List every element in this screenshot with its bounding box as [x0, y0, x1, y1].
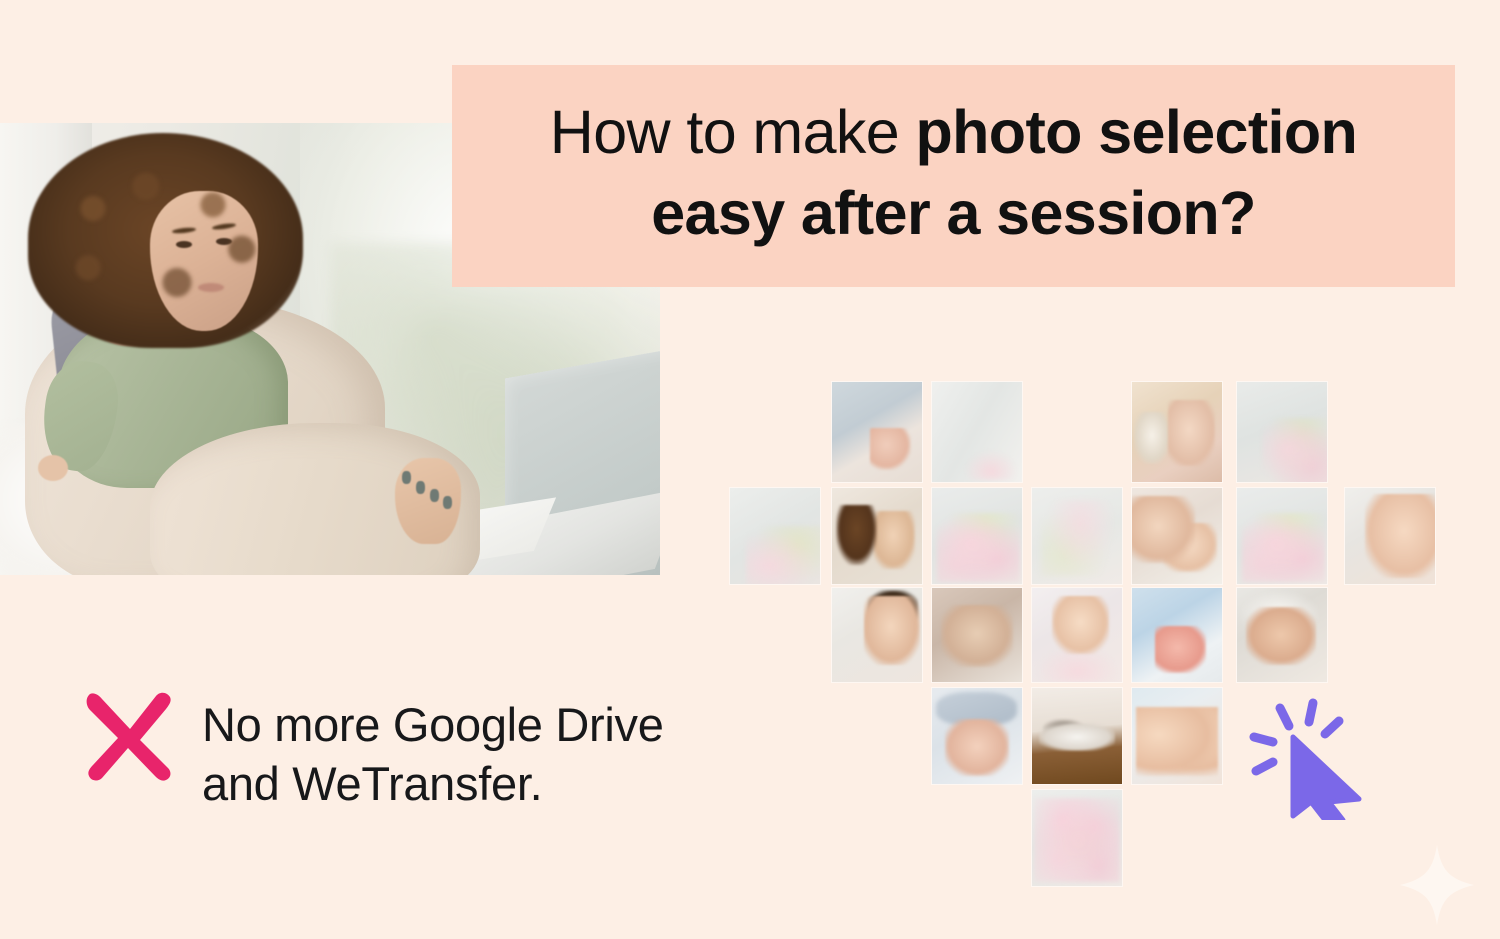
hero-nail-4: [443, 496, 452, 509]
claim-line-1: No more Google Drive: [202, 696, 664, 755]
collage-tile[interactable]: [1132, 588, 1222, 682]
click-cursor-icon[interactable]: [1243, 692, 1365, 820]
collage-tile-image: [1237, 488, 1327, 584]
collage-tile[interactable]: [1132, 488, 1222, 584]
collage-tile[interactable]: [832, 488, 922, 584]
headline-line-1: How to make photo selection: [550, 92, 1357, 173]
collage-tile-image: [1032, 488, 1122, 584]
collage-tile-image: [932, 688, 1022, 784]
collage-tile[interactable]: [1032, 588, 1122, 682]
claim-line-2: and WeTransfer.: [202, 755, 664, 814]
collage-tile-image: [832, 488, 922, 584]
collage-tile-image: [1132, 488, 1222, 584]
hero-mother-curls: [45, 153, 285, 338]
collage-tile[interactable]: [932, 588, 1022, 682]
collage-tile[interactable]: [1345, 488, 1435, 584]
collage-tile[interactable]: [932, 488, 1022, 584]
hero-nail-3: [430, 489, 439, 502]
collage-tile[interactable]: [1132, 382, 1222, 482]
collage-tile-image: [1032, 588, 1122, 682]
collage-tile-image: [1237, 588, 1327, 682]
collage-tile-image: [1132, 588, 1222, 682]
collage-tile[interactable]: [1032, 790, 1122, 886]
collage-tile[interactable]: [1237, 488, 1327, 584]
collage-tile-image: [1132, 688, 1222, 784]
collage-tile[interactable]: [730, 488, 820, 584]
hero-nail-1: [402, 471, 411, 484]
collage-tile-image: [832, 382, 922, 482]
poster-canvas: How to make photo selection easy after a…: [0, 0, 1500, 939]
collage-tile-image: [730, 488, 820, 584]
hero-baby-hand: [38, 455, 68, 481]
collage-tile-image: [932, 588, 1022, 682]
collage-tile[interactable]: [1237, 588, 1327, 682]
headline-line-2: easy after a session?: [651, 173, 1256, 254]
collage-tile[interactable]: [1032, 488, 1122, 584]
collage-tile[interactable]: [932, 688, 1022, 784]
headline-line-1-emphasis: photo selection: [915, 98, 1357, 166]
claim-block: No more Google Drive and WeTransfer.: [78, 690, 798, 814]
collage-tile-image: [832, 588, 922, 682]
collage-tile-image: [1345, 488, 1435, 584]
collage-tile[interactable]: [932, 382, 1022, 482]
collage-tile-image: [932, 382, 1022, 482]
collage-tile-image: [1132, 382, 1222, 482]
claim-text: No more Google Drive and WeTransfer.: [202, 690, 664, 814]
collage-tile[interactable]: [1237, 382, 1327, 482]
headline-banner: How to make photo selection easy after a…: [452, 65, 1455, 287]
x-cross-brush-icon: [78, 684, 178, 784]
collage-tile[interactable]: [832, 588, 922, 682]
hero-nail-2: [416, 481, 425, 494]
collage-tile-image: [932, 488, 1022, 584]
collage-tile-image: [1032, 790, 1122, 886]
headline-line-1-prefix: How to make: [550, 98, 916, 166]
collage-tile[interactable]: [1032, 688, 1122, 784]
sparkle-star-icon: [1398, 843, 1476, 927]
collage-tile[interactable]: [832, 382, 922, 482]
collage-tile-image: [1237, 382, 1327, 482]
collage-tile[interactable]: [1132, 688, 1222, 784]
collage-tile-image: [1032, 688, 1122, 784]
